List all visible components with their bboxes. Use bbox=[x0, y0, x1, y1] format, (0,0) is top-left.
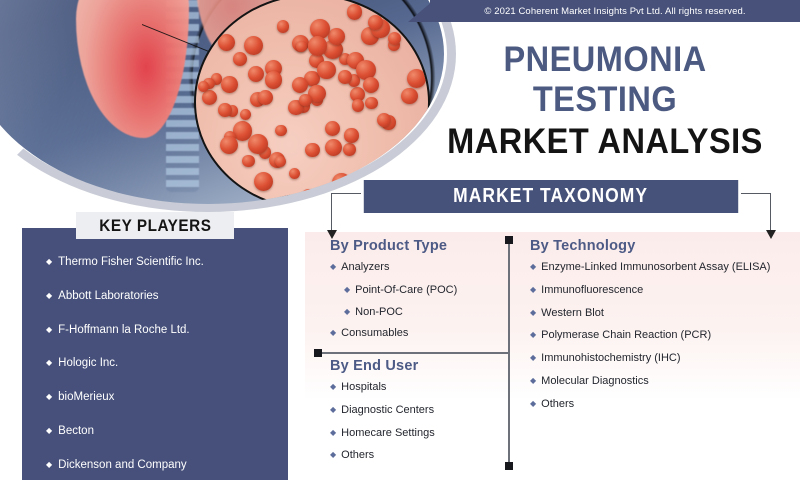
diamond-bullet-icon: ◆ bbox=[530, 284, 536, 296]
bacteria-dot bbox=[220, 136, 238, 154]
diamond-bullet-icon: ◆ bbox=[530, 398, 536, 410]
bacteria-dot bbox=[248, 134, 267, 153]
bacteria-magnification-inset bbox=[194, 0, 430, 204]
bacteria-dot bbox=[233, 52, 247, 66]
taxonomy-item: ◆Homecare Settings bbox=[330, 427, 500, 441]
key-player-item: ◆Thermo Fisher Scientific Inc. bbox=[46, 256, 286, 270]
taxonomy-subitem-label: Non-POC bbox=[355, 306, 403, 320]
key-player-label: Becton bbox=[58, 425, 94, 439]
key-player-item: ◆Becton bbox=[46, 425, 286, 439]
copyright-bar: © 2021 Coherent Market Insights Pvt Ltd.… bbox=[430, 0, 800, 22]
group-items: ◆Analyzers◆Point-Of-Care (POC)◆Non-POC◆C… bbox=[330, 261, 500, 341]
bacteria-dot bbox=[275, 156, 286, 167]
bacteria-dot bbox=[265, 71, 283, 89]
title-line-2: MARKET ANALYSIS bbox=[433, 121, 777, 163]
key-players-title: KEY PLAYERS bbox=[99, 216, 211, 236]
key-player-label: F-Hoffmann la Roche Ltd. bbox=[58, 324, 189, 338]
connector-left bbox=[331, 193, 361, 231]
group-items: ◆Enzyme-Linked Immunosorbent Assay (ELIS… bbox=[530, 261, 795, 411]
group-title: By End User bbox=[330, 358, 500, 374]
taxonomy-subitem-label: Point-Of-Care (POC) bbox=[355, 284, 457, 298]
bacteria-dot bbox=[218, 34, 235, 51]
taxonomy-item: ◆Immunofluorescence bbox=[530, 284, 795, 298]
key-player-label: bioMerieux bbox=[58, 391, 114, 405]
bacteria-dot bbox=[292, 77, 309, 94]
bacteria-dot bbox=[305, 143, 320, 158]
taxonomy-item: ◆Consumables bbox=[330, 327, 500, 341]
page-title: PNEUMONIA TESTING MARKET ANALYSIS bbox=[420, 40, 790, 163]
key-player-item: ◆bioMerieux bbox=[46, 391, 286, 405]
taxonomy-item: ◆Immunohistochemistry (IHC) bbox=[530, 352, 795, 366]
group-title: By Technology bbox=[530, 238, 795, 254]
taxonomy-item: ◆Western Blot bbox=[530, 307, 795, 321]
key-player-label: Dickenson and Company bbox=[58, 459, 187, 473]
bacteria-dot bbox=[328, 28, 345, 45]
market-taxonomy-header: MARKET TAXONOMY bbox=[364, 180, 738, 213]
key-player-label: Abbott Laboratories bbox=[58, 290, 158, 304]
key-players-list: ◆Thermo Fisher Scientific Inc.◆Abbott La… bbox=[46, 256, 286, 480]
bacteria-dot bbox=[347, 4, 362, 19]
taxonomy-item: ◆Others bbox=[530, 398, 795, 412]
diamond-bullet-icon: ◆ bbox=[530, 375, 536, 387]
bacteria-dot bbox=[277, 20, 289, 32]
diamond-bullet-icon: ◆ bbox=[46, 256, 52, 269]
diamond-bullet-icon: ◆ bbox=[46, 391, 52, 404]
title-line-1: PNEUMONIA TESTING bbox=[433, 40, 777, 121]
taxonomy-subitem: ◆Non-POC bbox=[344, 306, 500, 320]
taxonomy-group-product-type: By Product Type ◆Analyzers◆Point-Of-Care… bbox=[330, 238, 500, 350]
key-players-badge: KEY PLAYERS bbox=[76, 212, 234, 239]
taxonomy-item-label: Others bbox=[541, 398, 574, 412]
taxonomy-group-end-user: By End User ◆Hospitals◆Diagnostic Center… bbox=[330, 358, 500, 472]
taxonomy-item-label: Others bbox=[341, 449, 374, 463]
bacteria-dot bbox=[248, 66, 264, 82]
bacteria-dot bbox=[258, 90, 274, 106]
diamond-bullet-icon: ◆ bbox=[530, 307, 536, 319]
divider-cap-bottom bbox=[505, 462, 513, 470]
group-items: ◆Hospitals◆Diagnostic Centers◆Homecare S… bbox=[330, 381, 500, 463]
taxonomy-item: ◆Analyzers bbox=[330, 261, 500, 275]
diamond-bullet-icon: ◆ bbox=[530, 261, 536, 273]
bacteria-dot bbox=[311, 192, 326, 204]
divider-cap-top bbox=[505, 236, 513, 244]
taxonomy-item-label: Diagnostic Centers bbox=[341, 404, 434, 418]
diamond-bullet-icon: ◆ bbox=[46, 357, 52, 370]
infographic-root: © 2021 Coherent Market Insights Pvt Ltd.… bbox=[0, 0, 800, 480]
diamond-bullet-icon: ◆ bbox=[330, 261, 336, 273]
taxonomy-group-technology: By Technology ◆Enzyme-Linked Immunosorbe… bbox=[530, 238, 795, 420]
diamond-bullet-icon: ◆ bbox=[330, 404, 336, 416]
key-player-item: ◆Abbott Laboratories bbox=[46, 290, 286, 304]
taxonomy-item-label: Immunohistochemistry (IHC) bbox=[541, 352, 680, 366]
taxonomy-item: ◆Diagnostic Centers bbox=[330, 404, 500, 418]
bacteria-dot bbox=[308, 36, 327, 55]
taxonomy-item: ◆Hospitals bbox=[330, 381, 500, 395]
taxonomy-subitem: ◆Point-Of-Care (POC) bbox=[344, 284, 500, 298]
taxonomy-item-label: Polymerase Chain Reaction (PCR) bbox=[541, 329, 711, 343]
taxonomy-item: ◆Polymerase Chain Reaction (PCR) bbox=[530, 329, 795, 343]
bacteria-dot bbox=[221, 76, 238, 93]
diamond-bullet-icon: ◆ bbox=[330, 427, 336, 439]
key-player-label: Thermo Fisher Scientific Inc. bbox=[58, 256, 204, 270]
taxonomy-item-label: Consumables bbox=[341, 327, 408, 341]
bacteria-dot bbox=[254, 172, 273, 191]
diamond-bullet-icon: ◆ bbox=[344, 306, 350, 318]
taxonomy-subitems: ◆Point-Of-Care (POC)◆Non-POC bbox=[330, 284, 500, 320]
diamond-bullet-icon: ◆ bbox=[530, 352, 536, 364]
diamond-bullet-icon: ◆ bbox=[330, 381, 336, 393]
taxonomy-item: ◆Others bbox=[330, 449, 500, 463]
diamond-bullet-icon: ◆ bbox=[46, 324, 52, 337]
bacteria-dot bbox=[344, 128, 358, 142]
diamond-bullet-icon: ◆ bbox=[46, 425, 52, 438]
diamond-bullet-icon: ◆ bbox=[46, 459, 52, 472]
taxonomy-item-label: Molecular Diagnostics bbox=[541, 375, 649, 389]
bacteria-dot bbox=[377, 113, 391, 127]
taxonomy-item-label: Hospitals bbox=[341, 381, 386, 395]
bacteria-dot bbox=[240, 109, 252, 121]
key-player-item: ◆Hologic Inc. bbox=[46, 357, 286, 371]
bacteria-dot bbox=[401, 88, 417, 104]
connector-right bbox=[741, 193, 771, 231]
taxonomy-item-label: Analyzers bbox=[341, 261, 389, 275]
divider-cap-left bbox=[314, 349, 322, 357]
bacteria-dot bbox=[299, 94, 312, 107]
bacteria-dot bbox=[289, 168, 300, 179]
taxonomy-item-label: Western Blot bbox=[541, 307, 604, 321]
key-player-label: Hologic Inc. bbox=[58, 357, 118, 371]
horizontal-divider bbox=[316, 352, 509, 354]
bacteria-dot bbox=[325, 139, 342, 156]
taxonomy-item-label: Homecare Settings bbox=[341, 427, 435, 441]
bacteria-dot bbox=[275, 125, 286, 136]
bacteria-dot bbox=[365, 97, 378, 110]
bacteria-dot bbox=[244, 36, 263, 55]
key-player-item: ◆F-Hoffmann la Roche Ltd. bbox=[46, 324, 286, 338]
bacteria-dot bbox=[317, 61, 335, 79]
lungs-pneumonia-illustration bbox=[0, 0, 444, 204]
diamond-bullet-icon: ◆ bbox=[530, 329, 536, 341]
bacteria-dot bbox=[202, 90, 217, 105]
diamond-bullet-icon: ◆ bbox=[330, 449, 336, 461]
taxonomy-item: ◆Molecular Diagnostics bbox=[530, 375, 795, 389]
diamond-bullet-icon: ◆ bbox=[330, 327, 336, 339]
taxonomy-item: ◆Enzyme-Linked Immunosorbent Assay (ELIS… bbox=[530, 261, 795, 275]
bacteria-dot bbox=[242, 155, 254, 167]
bacteria-dot bbox=[338, 70, 352, 84]
bacteria-dot bbox=[332, 173, 351, 192]
bacteria-dot bbox=[352, 99, 364, 111]
group-title: By Product Type bbox=[330, 238, 500, 254]
key-player-item: ◆Dickenson and Company bbox=[46, 459, 286, 473]
hero-image bbox=[0, 0, 444, 204]
taxonomy-item-label: Immunofluorescence bbox=[541, 284, 643, 298]
taxonomy-item-label: Enzyme-Linked Immunosorbent Assay (ELISA… bbox=[541, 261, 770, 275]
diamond-bullet-icon: ◆ bbox=[344, 284, 350, 296]
bacteria-dot bbox=[343, 143, 356, 156]
bacteria-dot bbox=[325, 121, 340, 136]
market-taxonomy-label: MARKET TAXONOMY bbox=[454, 185, 649, 208]
diamond-bullet-icon: ◆ bbox=[46, 290, 52, 303]
bacteria-dot bbox=[363, 77, 379, 93]
bacteria-dot bbox=[218, 103, 232, 117]
